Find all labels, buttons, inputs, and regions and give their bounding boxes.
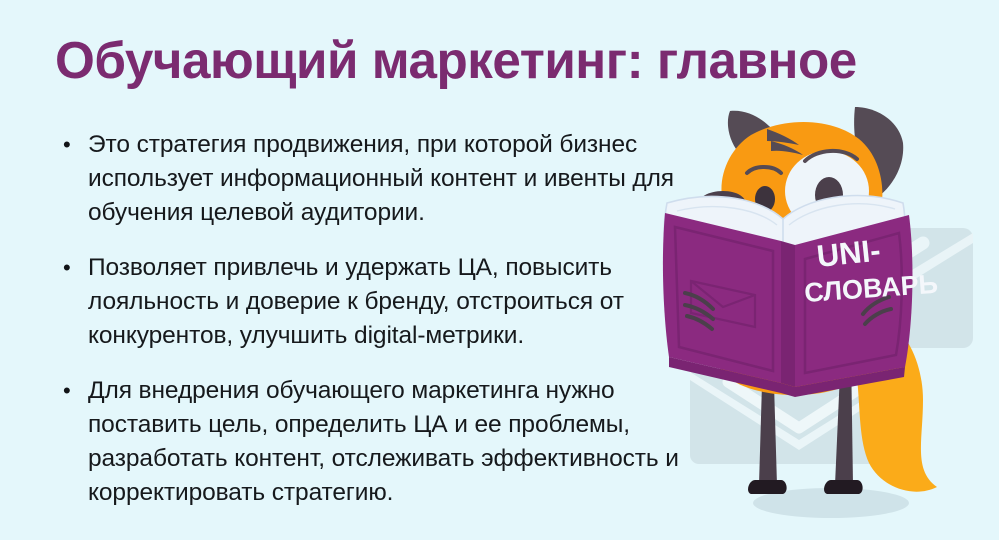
slide-title: Обучающий маркетинг: главное — [55, 32, 942, 90]
bullet-text: Для внедрения обучающего маркетинга нужн… — [88, 374, 698, 510]
bullet-marker-icon: • — [58, 128, 88, 162]
book-title-line-1: UNI- — [815, 232, 882, 273]
bullet-text: Позволяет привлечь и удержать ЦА, повыси… — [88, 251, 698, 353]
list-item: • Это стратегия продвижения, при которой… — [58, 128, 698, 230]
bullet-list: • Это стратегия продвижения, при которой… — [58, 128, 698, 510]
list-item: • Для внедрения обучающего маркетинга ну… — [58, 374, 698, 510]
fox-foot-left — [748, 480, 787, 494]
fox-foot-right — [824, 480, 863, 494]
bullet-marker-icon: • — [58, 374, 88, 408]
bullet-marker-icon: • — [58, 251, 88, 285]
fox-reading-book-illustration: UNI- СЛОВАРЬ — [655, 95, 999, 540]
bullet-text: Это стратегия продвижения, при которой б… — [88, 128, 698, 230]
slide-canvas: Обучающий маркетинг: главное • Это страт… — [0, 0, 999, 540]
list-item: • Позволяет привлечь и удержать ЦА, повы… — [58, 251, 698, 353]
